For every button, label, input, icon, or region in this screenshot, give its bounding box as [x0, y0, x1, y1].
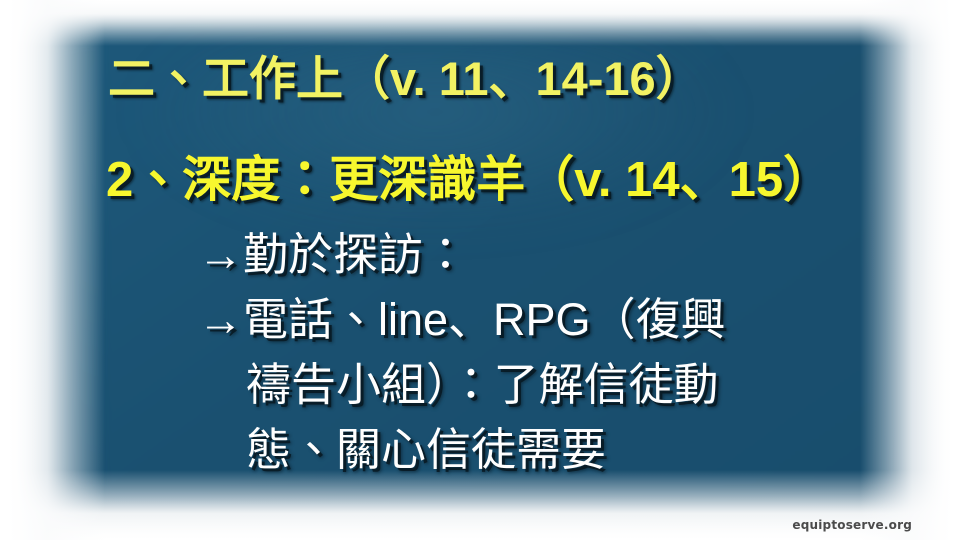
- body-line-1: →勤於探訪：: [198, 232, 468, 277]
- body-line-3: 禱告小組）：了解信徒動: [246, 362, 719, 407]
- watermark-equiptoserve: equiptoserve.org: [792, 518, 912, 532]
- slide-title: 二、工作上（v. 11、14-16）: [108, 55, 703, 102]
- body-line-4: 態、關心信徒需要: [246, 427, 606, 472]
- presentation-slide: 二、工作上（v. 11、14-16） 2、深度：更深識羊（v. 14、15） →…: [0, 0, 960, 540]
- body-line-2: →電話、line、RPG（復興: [198, 297, 726, 342]
- slide-content: 二、工作上（v. 11、14-16） 2、深度：更深識羊（v. 14、15） →…: [0, 0, 960, 540]
- slide-subtitle: 2、深度：更深識羊（v. 14、15）: [106, 156, 832, 205]
